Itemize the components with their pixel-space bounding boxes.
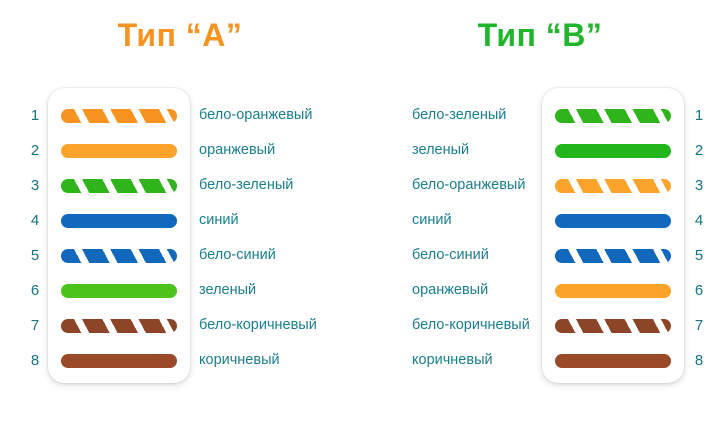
- pin-number: 4: [690, 203, 708, 238]
- pin-color-label: бело-синий: [199, 238, 276, 273]
- pin-number: 7: [26, 308, 44, 343]
- wire-stripe-pattern: [555, 319, 671, 333]
- wire-striped: [555, 249, 671, 263]
- wire-solid: [61, 214, 177, 228]
- wire-striped: [61, 319, 177, 333]
- pin-color-label: оранжевый: [199, 133, 275, 168]
- pin-color-label: бело-зеленый: [199, 168, 293, 203]
- wire-striped: [61, 179, 177, 193]
- wire-stripe-pattern: [61, 109, 177, 123]
- pin-row: 8коричневый: [360, 343, 720, 378]
- pin-color-label: бело-оранжевый: [412, 168, 525, 203]
- pin-color-label: бело-коричневый: [199, 308, 317, 343]
- pin-row: 3бело-зеленый: [0, 168, 360, 203]
- wire-striped: [555, 179, 671, 193]
- pin-color-label: бело-коричневый: [412, 308, 530, 343]
- pin-row: 4синий: [360, 203, 720, 238]
- wire-solid: [61, 354, 177, 368]
- panel-type-a: 1бело-оранжевый2оранжевый3бело-зеленый4с…: [0, 88, 360, 398]
- wire-solid: [555, 284, 671, 298]
- panel-title-type-b: Тип “В”: [360, 12, 720, 58]
- pin-row: 5бело-синий: [360, 238, 720, 273]
- wire-solid: [555, 214, 671, 228]
- wire-striped: [61, 109, 177, 123]
- pin-number: 5: [690, 238, 708, 273]
- wire-stripe-pattern: [61, 179, 177, 193]
- pin-number: 8: [26, 343, 44, 378]
- wire-solid: [555, 144, 671, 158]
- wire-solid-fill: [61, 354, 177, 368]
- pin-number: 7: [690, 308, 708, 343]
- pin-row: 2оранжевый: [0, 133, 360, 168]
- panel-type-b: 1бело-зеленый2зеленый3бело-оранжевый4син…: [360, 88, 720, 398]
- wiring-diagram: Тип “А” 1бело-оранжевый2оранжевый3бело-з…: [0, 0, 720, 427]
- pin-color-label: бело-оранжевый: [199, 98, 312, 133]
- pin-row: 3бело-оранжевый: [360, 168, 720, 203]
- pin-row: 6зеленый: [0, 273, 360, 308]
- wire-striped: [555, 109, 671, 123]
- pin-number: 2: [26, 133, 44, 168]
- wire-solid-fill: [61, 144, 177, 158]
- pin-row: 6оранжевый: [360, 273, 720, 308]
- pin-row: 8коричневый: [0, 343, 360, 378]
- pin-color-label: оранжевый: [412, 273, 488, 308]
- pin-color-label: синий: [199, 203, 239, 238]
- wire-stripe-pattern: [555, 109, 671, 123]
- wire-stripe-pattern: [555, 249, 671, 263]
- pin-number: 3: [26, 168, 44, 203]
- pin-row: 1бело-зеленый: [360, 98, 720, 133]
- pin-number: 6: [690, 273, 708, 308]
- pin-color-label: зеленый: [199, 273, 256, 308]
- wire-stripe-pattern: [61, 319, 177, 333]
- wire-solid: [555, 354, 671, 368]
- pin-row: 2зеленый: [360, 133, 720, 168]
- panel-title-type-a: Тип “А”: [0, 12, 360, 58]
- wire-stripe-pattern: [61, 249, 177, 263]
- pin-color-label: коричневый: [199, 343, 280, 378]
- wire-solid-fill: [555, 354, 671, 368]
- pin-row: 4синий: [0, 203, 360, 238]
- wire-solid-fill: [555, 144, 671, 158]
- pin-number: 5: [26, 238, 44, 273]
- pin-number: 3: [690, 168, 708, 203]
- wire-stripe-pattern: [555, 179, 671, 193]
- pin-number: 6: [26, 273, 44, 308]
- pin-color-label: зеленый: [412, 133, 469, 168]
- wire-solid: [61, 144, 177, 158]
- pin-number: 4: [26, 203, 44, 238]
- pin-color-label: бело-синий: [412, 238, 489, 273]
- pin-number: 1: [690, 98, 708, 133]
- pin-row: 5бело-синий: [0, 238, 360, 273]
- pin-number: 8: [690, 343, 708, 378]
- wire-solid-fill: [61, 214, 177, 228]
- pin-color-label: синий: [412, 203, 452, 238]
- pin-color-label: коричневый: [412, 343, 493, 378]
- pin-row: 7бело-коричневый: [0, 308, 360, 343]
- pin-number: 2: [690, 133, 708, 168]
- wire-solid-fill: [555, 284, 671, 298]
- wire-solid-fill: [61, 284, 177, 298]
- wire-striped: [61, 249, 177, 263]
- wire-striped: [555, 319, 671, 333]
- pin-row: 1бело-оранжевый: [0, 98, 360, 133]
- pin-number: 1: [26, 98, 44, 133]
- pin-row: 7бело-коричневый: [360, 308, 720, 343]
- pin-color-label: бело-зеленый: [412, 98, 506, 133]
- wire-solid: [61, 284, 177, 298]
- wire-solid-fill: [555, 214, 671, 228]
